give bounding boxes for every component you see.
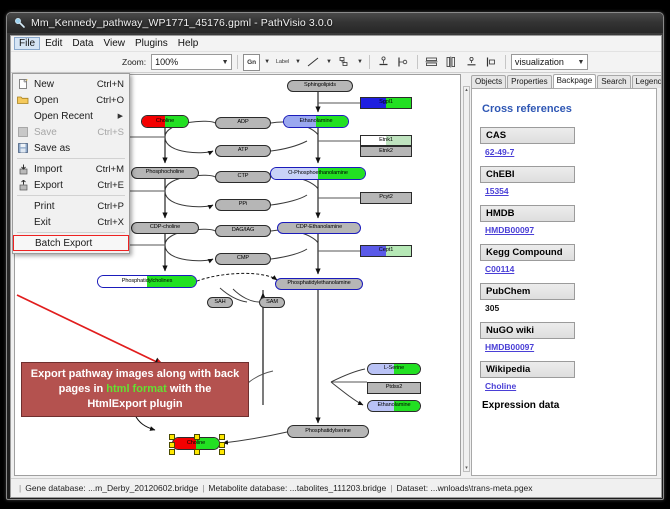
pathway-node-label: CDP-Ethanolamine [296,225,342,231]
align-top-icon[interactable] [375,54,392,71]
pathway-node-pe[interactable]: Phosphatidylethanolamine [275,278,363,290]
pathway-node-label: L-Serine [384,366,404,372]
file-menu-item-label: Open [34,95,96,106]
application-window: Mm_Kennedy_pathway_WP1771_45176.gpml - P… [6,12,664,500]
file-menu-item-shortcut: Ctrl+S [97,127,127,138]
selection-handle[interactable] [169,449,175,455]
zoom-value: 100% [155,57,219,67]
pathway-node-label: Ethanolamine [377,403,410,409]
save-icon [15,125,31,139]
line-dropdown-icon[interactable]: ▼ [325,59,333,65]
file-menu-item-label: Save [34,127,97,138]
file-menu-item-open-recent[interactable]: Open Recent▶ [13,108,129,124]
cross-reference-entry: Kegg CompoundC00114 [480,244,648,274]
interaction-icon[interactable] [336,54,353,71]
status-metabolite-database: Metabolite database: ...tabolites_111203… [208,483,386,493]
pathway-node-label: CTP [238,174,249,180]
menu-file[interactable]: File [14,37,40,50]
tab-properties[interactable]: Properties [507,75,551,88]
zoom-label: Zoom: [122,57,146,67]
file-menu-item-new[interactable]: NewCtrl+N [13,76,129,92]
status-divider: | [198,483,208,493]
cross-reference-entry: NuGO wikiHMDB00097 [480,322,648,352]
status-divider: | [386,483,396,493]
cross-references-title: Cross references [482,103,648,115]
callout-line1: Export pathway images along with back [31,368,239,380]
file-menu-item-batch-export[interactable]: Batch Export [13,235,129,251]
cross-reference-name: NuGO wiki [480,322,575,339]
pathway-node-label: Pcyt2 [379,195,393,201]
cross-reference-entry: PubChem305 [480,283,648,313]
status-bar: | Gene database: ...m_Derby_20120602.bri… [11,478,661,497]
file-menu-item-label: Export [34,180,97,191]
no-icon [15,199,31,213]
pathway-node-label: CMP [237,256,249,262]
file-menu-item-shortcut: Ctrl+E [97,180,127,191]
pathway-node-label: Phosphatidylserine [305,429,350,435]
file-menu-item-shortcut: Ctrl+X [97,217,127,228]
menu-view[interactable]: View [98,37,130,50]
menu-data[interactable]: Data [67,37,98,50]
cross-reference-name: ChEBI [480,166,575,183]
pathway-node-label: ADP [237,120,248,126]
no-icon [15,109,31,123]
file-menu-item-label: Print [34,201,97,212]
cross-reference-name: CAS [480,127,575,144]
pathway-node-label: CDP-choline [150,225,180,231]
pathway-node-label: PPi [239,202,247,208]
title-bar: Mm_Kennedy_pathway_WP1771_45176.gpml - P… [7,13,663,33]
visualization-combobox[interactable]: visualization ▼ [511,54,588,70]
tab-objects[interactable]: Objects [471,75,506,88]
menu-separator [17,232,125,233]
file-menu-item-open[interactable]: OpenCtrl+O [13,92,129,108]
pathway-node-phosphocholine[interactable]: Phosphocholine [131,167,199,179]
interaction-dropdown-icon[interactable]: ▼ [356,59,364,65]
cross-reference-value[interactable]: C00114 [485,264,648,274]
visualization-value: visualization [515,57,575,67]
backpage-content: Cross references CAS62-49-7ChEBI15354HMD… [471,88,657,476]
callout-line2-b: with the [167,383,212,395]
align-left-icon[interactable] [395,54,412,71]
cross-reference-name: PubChem [480,283,575,300]
file-menu-item-label: Save as [34,143,124,154]
pathway-node-sgpl1[interactable]: Sgpl1 [360,97,412,109]
pathway-node-label: Sgpl1 [379,100,393,106]
distribute-vertical-icon[interactable] [443,54,460,71]
pathvisio-icon [14,17,26,29]
pathway-node-ethanolamine2[interactable]: Ethanolamine [367,400,421,412]
new-file-icon [15,77,31,91]
side-panel: Objects Properties Backpage Search Legen… [463,72,659,476]
cross-reference-name: Wikipedia [480,361,575,378]
pathway-node-label: Phosphatidylcholines [122,279,173,285]
pathway-node-sphingolipids[interactable]: Sphingolipids [287,80,353,92]
pathway-node-ethanolamine1[interactable]: Ethanolamine [283,115,349,128]
file-menu-popup[interactable]: NewCtrl+NOpenCtrl+OOpen Recent▶SaveCtrl+… [12,73,130,254]
tab-search[interactable]: Search [597,75,630,88]
cross-reference-entry: CAS62-49-7 [480,127,648,157]
file-menu-item-label: Batch Export [35,238,123,249]
selection-handle[interactable] [219,449,225,455]
pathway-node-label: Choline [156,119,174,125]
file-menu-item-import[interactable]: ImportCtrl+M [13,161,129,177]
pathway-node-o-phosphoet[interactable]: O-Phosphoethanolamine [270,167,366,180]
label-dropdown-icon[interactable]: ▼ [294,59,302,65]
pathway-node-cept1[interactable]: Cept1 [360,245,412,257]
pathway-node-label: O-Phosphoethanolamine [288,171,348,177]
pathway-node-pcyt2[interactable]: Pcyt2 [360,192,412,204]
file-menu-item-print[interactable]: PrintCtrl+P [13,198,129,214]
window-title: Mm_Kennedy_pathway_WP1771_45176.gpml - P… [31,17,333,29]
cross-reference-value[interactable]: HMDB00097 [485,225,648,235]
pathway-node-sah[interactable]: SAH [207,297,233,308]
callout-line2-highlight: html format [106,383,167,395]
cross-reference-entry: WikipediaCholine [480,361,648,391]
chevron-down-icon: ▼ [575,59,587,66]
pathway-node-adp[interactable]: ADP [215,117,271,129]
file-menu-item-save-as[interactable]: Save as [13,140,129,156]
zoom-combobox[interactable]: 100% ▼ [151,54,232,70]
pathway-node-label: Phosphocholine [146,170,184,176]
file-menu-item-shortcut: Ctrl+N [97,79,127,90]
align-right-icon[interactable] [483,54,500,71]
pathway-node-pc[interactable]: Phosphatidylcholines [97,275,197,288]
pathway-node-cmp[interactable]: CMP [215,253,271,265]
tool-bar: Zoom: 100% ▼ Gn ▼ Label ▼ ▼ [11,52,661,73]
pathway-node-label: SAM [266,300,278,306]
client-area: File Edit Data View Plugins Help Zoom: 1… [10,35,662,498]
save-as-icon [15,141,31,155]
pathway-node-label: Ethanolamine [299,119,332,125]
chevron-right-icon: ▶ [118,112,127,120]
import-icon [15,162,31,176]
pathway-node-ps[interactable]: Phosphatidylserine [287,425,369,438]
menu-separator [17,158,125,159]
distribute-horizontal-icon[interactable] [423,54,440,71]
cross-reference-name: Kegg Compound [480,244,575,261]
file-menu-item-label: Open Recent [34,111,118,122]
label-icon[interactable]: Label [274,54,291,71]
cross-reference-list: CAS62-49-7ChEBI15354HMDBHMDB00097Kegg Co… [480,127,648,391]
file-menu-item-label: Exit [34,217,97,228]
stack-bottom-icon[interactable] [463,54,480,71]
expression-data-title: Expression data [482,400,648,411]
selection-handle[interactable] [219,442,225,448]
pathway-node-etnk2[interactable]: Etnk2 [360,146,412,157]
file-menu-item-shortcut: Ctrl+M [96,164,127,175]
pathway-node-label: ATP [238,148,248,154]
gene-product-dropdown-icon[interactable]: ▼ [263,59,271,65]
tab-backpage[interactable]: Backpage [553,74,597,88]
menu-help[interactable]: Help [173,37,204,50]
selection-handle[interactable] [194,449,200,455]
no-icon [15,215,31,229]
open-folder-icon [15,93,31,107]
line-icon[interactable] [305,54,322,71]
status-divider: | [15,483,25,493]
export-icon [15,178,31,192]
pathway-node-label: Etnk2 [379,149,393,155]
cross-reference-value: 305 [485,303,648,313]
pathway-node-cdp-choline[interactable]: CDP-choline [131,222,199,234]
cross-reference-entry: HMDBHMDB00097 [480,205,648,235]
pathway-node-label: Sphingolipids [304,83,336,89]
menu-separator [17,195,125,196]
pathway-node-label: Choline [187,441,205,447]
file-menu-item-label: New [34,79,97,90]
screenshot-root: Mm_Kennedy_pathway_WP1771_45176.gpml - P… [0,0,670,509]
pathway-node-ptdss2[interactable]: Ptdss2 [367,382,421,394]
selection-handle[interactable] [169,434,175,440]
pathway-node-label: Etnk1 [379,138,393,144]
menu-edit[interactable]: Edit [40,37,67,50]
callout-line3: HtmlExport plugin [87,398,182,410]
pathway-node-cdp-etn[interactable]: CDP-Ethanolamine [277,222,361,234]
file-menu-item-shortcut: Ctrl+O [96,95,127,106]
cross-reference-entry: ChEBI15354 [480,166,648,196]
pathway-node-etnk1[interactable]: Etnk1 [360,135,412,146]
file-menu-item-shortcut: Ctrl+P [97,201,127,212]
selection-handle[interactable] [194,434,200,440]
pathway-node-label: Ptdss2 [386,385,403,391]
cross-reference-value[interactable]: 15354 [485,186,648,196]
pathway-node-ctp[interactable]: CTP [215,171,271,183]
menu-plugins[interactable]: Plugins [130,37,173,50]
status-gene-database: Gene database: ...m_Derby_20120602.bridg… [25,483,198,493]
pathway-node-dag[interactable]: DAG/IAG [215,225,271,237]
cross-reference-name: HMDB [480,205,575,222]
no-icon [16,236,32,250]
pathway-node-label: Phosphatidylethanolamine [287,281,350,287]
cross-reference-value[interactable]: 62-49-7 [485,147,648,157]
panel-collapse-bar[interactable]: ▴ ▾ [463,86,470,472]
chevron-down-icon: ▼ [219,59,231,66]
menu-bar: File Edit Data View Plugins Help [11,36,661,52]
pathway-node-atp[interactable]: ATP [215,145,271,157]
pathway-node-ppi[interactable]: PPi [215,199,271,211]
pathway-node-label: Cept1 [379,248,393,254]
file-menu-item-label: Import [34,164,96,175]
status-dataset: Dataset: ...wnloads\trans-meta.pgex [396,483,532,493]
file-menu-item-exit[interactable]: ExitCtrl+X [13,214,129,230]
callout-annotation: Export pathway images along with back pa… [21,362,249,417]
pathway-node-choline[interactable]: Choline [141,115,189,128]
cross-reference-value[interactable]: HMDB00097 [485,342,648,352]
file-menu-item-save[interactable]: SaveCtrl+S [13,124,129,140]
callout-line2-a: pages in [59,383,107,395]
file-menu-item-export[interactable]: ExportCtrl+E [13,177,129,193]
selection-handle[interactable] [219,434,225,440]
pathway-node-sam[interactable]: SAM [259,297,285,308]
tab-legend[interactable]: Legend [632,75,662,88]
pathway-node-label: DAG/IAG [232,228,255,234]
cross-reference-value[interactable]: Choline [485,381,648,391]
panel-collapse-up-icon[interactable]: ▴ [465,87,468,93]
side-panel-tabs: Objects Properties Backpage Search Legen… [463,74,657,88]
selection-handle[interactable] [169,442,175,448]
pathway-node-label: SAH [214,300,225,306]
panel-collapse-down-icon[interactable]: ▾ [465,465,468,471]
gene-product-icon[interactable]: Gn [243,54,260,71]
pathway-node-l-serine[interactable]: L-Serine [367,363,421,375]
